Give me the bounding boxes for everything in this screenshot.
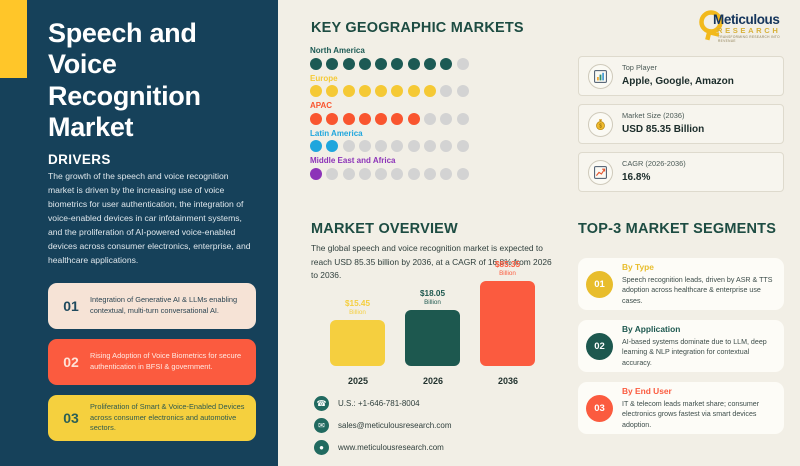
bar-unit-label: Billion [424, 299, 441, 307]
geo-dot-empty [343, 140, 355, 152]
geo-dot-filled [375, 58, 387, 70]
geo-dot-filled [440, 58, 452, 70]
geo-dot-scale [310, 113, 560, 125]
driver-card-02[interactable]: 02 Rising Adoption of Voice Biometrics f… [48, 339, 256, 385]
geo-dot-empty [408, 168, 420, 180]
stat-card-cagr[interactable]: CAGR (2026-2036) 16.8% [578, 152, 784, 192]
segment-card-by-type[interactable]: 01 By Type Speech recognition leads, dri… [578, 258, 784, 310]
geo-dot-empty [457, 113, 469, 125]
segment-badge: 02 [586, 333, 613, 360]
contact-block: ☎U.S.: +1-646-781-8004✉sales@meticulousr… [314, 396, 452, 462]
stat-value: Apple, Google, Amazon [622, 74, 734, 89]
geo-row: Middle East and Africa [310, 156, 560, 180]
segment-description: AI-based systems dominate due to LLM, de… [622, 337, 774, 368]
accent-bar [0, 0, 27, 78]
geo-dot-filled [326, 140, 338, 152]
geo-dot-filled [359, 85, 371, 97]
stat-card-top-player[interactable]: Top Player Apple, Google, Amazon [578, 56, 784, 96]
segment-description: Speech recognition leads, driven by ASR … [622, 275, 774, 306]
driver-card-01[interactable]: 01 Integration of Generative AI & LLMs e… [48, 283, 256, 329]
geo-dot-empty [326, 168, 338, 180]
segment-card-by-application[interactable]: 02 By Application AI-based systems domin… [578, 320, 784, 372]
bar-value-label: $85.35 [495, 260, 520, 269]
segment-title: By End User [622, 386, 774, 398]
geo-dot-filled [391, 113, 403, 125]
geo-row: Europe [310, 74, 560, 98]
logo-subtitle: RESEARCH [717, 26, 780, 35]
geo-dot-empty [424, 168, 436, 180]
segment-title: By Application [622, 324, 774, 336]
geo-dot-filled [310, 85, 322, 97]
geo-dot-scale [310, 168, 560, 180]
email-icon: ✉ [314, 418, 329, 433]
geo-dot-filled [326, 113, 338, 125]
bar-chart-icon [588, 64, 613, 89]
geo-dot-filled [343, 58, 355, 70]
contact-row[interactable]: ☎U.S.: +1-646-781-8004 [314, 396, 452, 411]
market-size-bar-chart: $15.45Billion2025$18.05Billion2026$85.35… [330, 283, 550, 388]
geo-dot-empty [359, 140, 371, 152]
bar-unit-label: Billion [349, 309, 366, 317]
drivers-body-text: The growth of the speech and voice recog… [48, 170, 253, 267]
segment-description: IT & telecom leads market share; consume… [622, 399, 774, 430]
geo-dot-filled [343, 113, 355, 125]
geo-row: Latin America [310, 129, 560, 153]
geo-dot-empty [408, 140, 420, 152]
geo-dot-empty [440, 168, 452, 180]
geo-dot-filled [375, 85, 387, 97]
driver-text: Proliferation of Smart & Voice-Enabled D… [86, 402, 246, 434]
page-title: Speech andVoiceRecognitionMarket [48, 18, 268, 143]
geo-dot-filled [326, 85, 338, 97]
segment-badge: 01 [586, 271, 613, 298]
driver-number: 02 [56, 354, 86, 370]
segment-badge: 03 [586, 395, 613, 422]
bar-category-label: 2025 [329, 376, 387, 386]
segment-card-by-end-user[interactable]: 03 By End User IT & telecom leads market… [578, 382, 784, 434]
segment-title: By Type [622, 262, 774, 274]
geo-dot-filled [408, 58, 420, 70]
bar-category-label: 2036 [479, 376, 537, 386]
contact-text: U.S.: +1-646-781-8004 [329, 399, 420, 408]
stat-caption: CAGR (2026-2036) [622, 159, 686, 169]
geo-region-label: APAC [310, 101, 560, 110]
geo-dot-empty [375, 140, 387, 152]
geo-dot-empty [440, 113, 452, 125]
geo-dot-empty [391, 140, 403, 152]
geo-row: APAC [310, 101, 560, 125]
drivers-heading: DRIVERS [48, 152, 111, 167]
globe-icon: ● [314, 440, 329, 455]
logo-tagline: TRANSFORMING RESEARCH INTO REVENUE [718, 35, 793, 43]
geo-dot-empty [457, 168, 469, 180]
bar-group: $85.35Billion [480, 260, 535, 366]
geo-dot-filled [375, 113, 387, 125]
bar-value-label: $18.05 [420, 289, 445, 298]
geo-dot-empty [457, 58, 469, 70]
geo-dot-filled [424, 58, 436, 70]
geo-dot-filled [359, 113, 371, 125]
bar-group: $18.05Billion [405, 289, 460, 366]
bar [480, 281, 535, 366]
geo-dot-filled [310, 168, 322, 180]
geo-region-label: Latin America [310, 129, 560, 138]
geo-dot-empty [343, 168, 355, 180]
bar-group: $15.45Billion [330, 299, 385, 366]
geo-region-label: Europe [310, 74, 560, 83]
company-logo[interactable]: Meticulous RESEARCH TRANSFORMING RESEARC… [697, 10, 793, 44]
bar-category-label: 2026 [404, 376, 462, 386]
geo-row: North America [310, 46, 560, 70]
geo-dot-scale [310, 140, 560, 152]
driver-text: Integration of Generative AI & LLMs enab… [86, 295, 246, 316]
geo-dot-empty [391, 168, 403, 180]
trending-up-icon [588, 160, 613, 185]
geo-dot-filled [408, 113, 420, 125]
geo-dot-empty [424, 140, 436, 152]
geo-region-label: Middle East and Africa [310, 156, 560, 165]
logo-name: Meticulous [713, 12, 780, 27]
driver-text: Rising Adoption of Voice Biometrics for … [86, 351, 246, 372]
contact-row[interactable]: ●www.meticulousresearch.com [314, 440, 452, 455]
geo-dot-empty [457, 140, 469, 152]
geo-dot-empty [424, 113, 436, 125]
geo-dot-filled [326, 58, 338, 70]
stat-caption: Market Size (2036) [622, 111, 704, 121]
geographic-markets: North AmericaEuropeAPACLatin AmericaMidd… [310, 46, 560, 184]
driver-number: 01 [56, 298, 86, 314]
money-bag-icon: $ [588, 112, 613, 137]
bar-value-label: $15.45 [345, 299, 370, 308]
segments-heading: TOP-3 MARKET SEGMENTS [578, 221, 776, 237]
stat-caption: Top Player [622, 63, 734, 73]
contact-row[interactable]: ✉sales@meticulousresearch.com [314, 418, 452, 433]
geo-dot-filled [359, 58, 371, 70]
infographic-page: Speech andVoiceRecognitionMarket DRIVERS… [0, 0, 800, 466]
geography-heading: KEY GEOGRAPHIC MARKETS [311, 20, 524, 36]
geo-dot-scale [310, 58, 560, 70]
driver-card-03[interactable]: 03 Proliferation of Smart & Voice-Enable… [48, 395, 256, 441]
geo-dot-filled [310, 58, 322, 70]
market-overview-heading: MARKET OVERVIEW [311, 221, 458, 237]
geo-dot-filled [391, 85, 403, 97]
geo-dot-empty [457, 85, 469, 97]
geo-dot-empty [440, 140, 452, 152]
geo-dot-empty [375, 168, 387, 180]
bar [405, 310, 460, 366]
stat-value: 16.8% [622, 170, 686, 185]
geo-dot-filled [343, 85, 355, 97]
geo-region-label: North America [310, 46, 560, 55]
driver-number: 03 [56, 410, 86, 426]
contact-text: www.meticulousresearch.com [329, 443, 444, 452]
geo-dot-filled [310, 140, 322, 152]
geo-dot-filled [408, 85, 420, 97]
contact-text: sales@meticulousresearch.com [329, 421, 452, 430]
geo-dot-empty [440, 85, 452, 97]
geo-dot-scale [310, 85, 560, 97]
geo-dot-empty [359, 168, 371, 180]
stat-value: USD 85.35 Billion [622, 122, 704, 137]
geo-dot-filled [391, 58, 403, 70]
bar [330, 320, 385, 366]
bar-unit-label: Billion [499, 270, 516, 278]
phone-icon: ☎ [314, 396, 329, 411]
stat-card-market-size[interactable]: $ Market Size (2036) USD 85.35 Billion [578, 104, 784, 144]
left-panel: Speech andVoiceRecognitionMarket DRIVERS… [0, 0, 278, 466]
geo-dot-filled [424, 85, 436, 97]
geo-dot-filled [310, 113, 322, 125]
svg-text:$: $ [599, 123, 602, 129]
